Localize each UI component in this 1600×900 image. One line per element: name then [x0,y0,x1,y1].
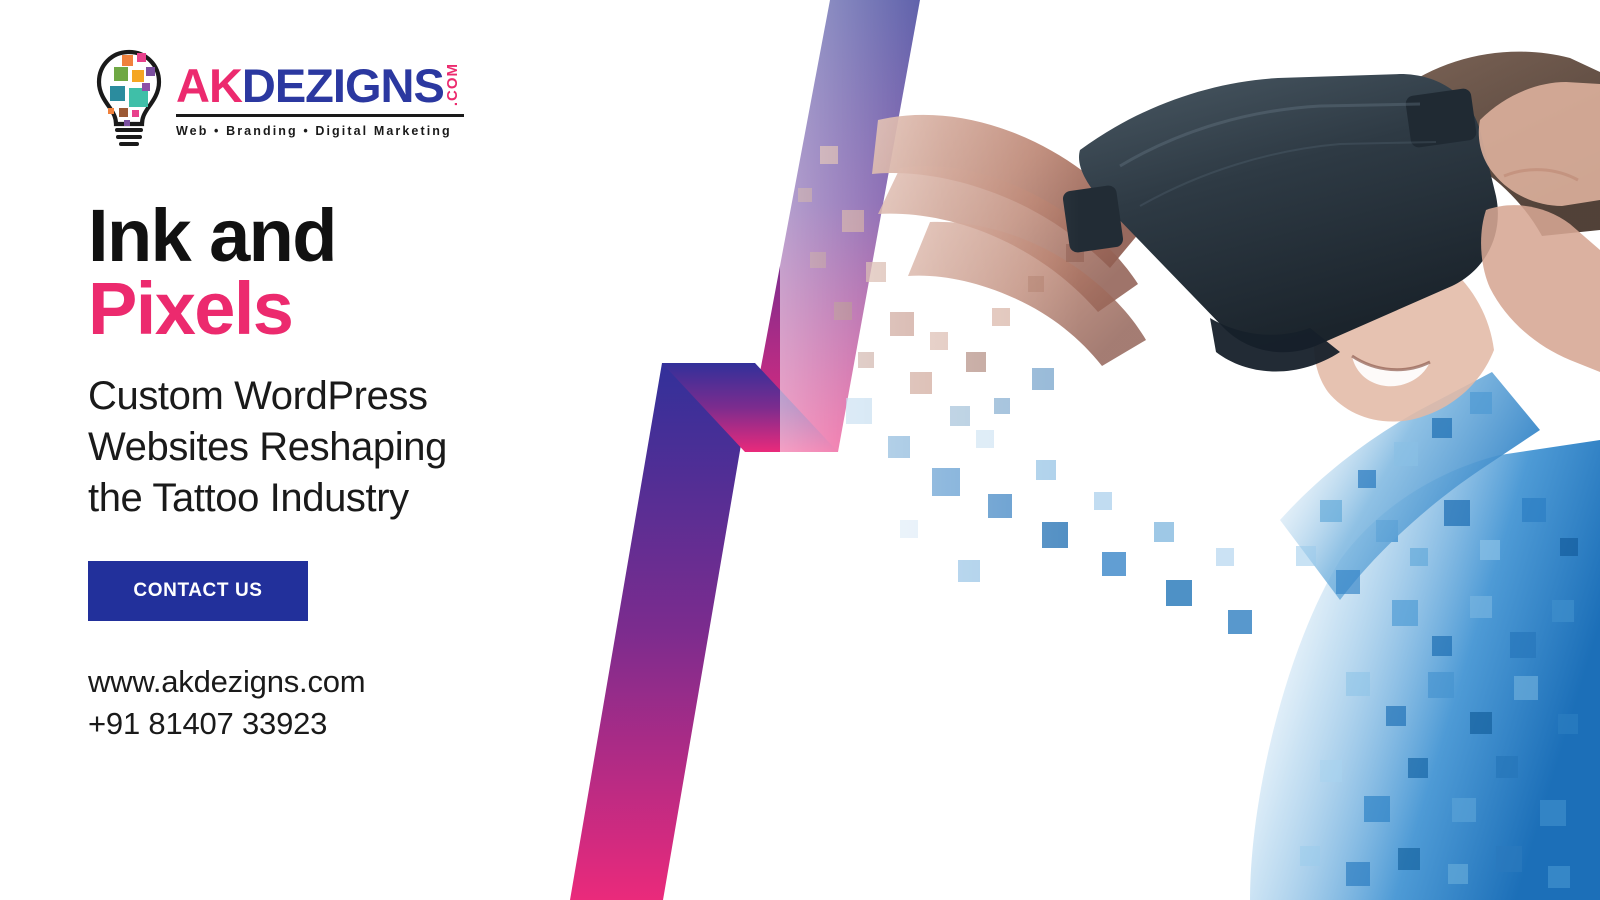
phone-number[interactable]: +91 81407 33923 [88,703,640,746]
logo-tagline: Web • Branding • Digital Marketing [176,124,464,138]
vr-headset-woman-pixel-dispersion [780,0,1600,900]
ribbon-stroke-long [745,0,920,452]
wordmark-ak: AK [176,62,242,109]
figure-hands-on-headset [1479,82,1600,372]
wordmark-dezigns: DEZIGNS [242,62,444,109]
figure-head [1314,52,1600,422]
lightbulb-pixels-icon [88,46,170,154]
contact-info: www.akdezigns.com +91 81407 33923 [88,661,640,747]
subtitle: Custom WordPress Websites Reshaping the … [88,371,640,525]
subtitle-line-1: Custom WordPress [88,371,640,422]
figure-hand [798,115,1252,634]
subtitle-line-2: Websites Reshaping [88,422,640,473]
website-link[interactable]: www.akdezigns.com [88,661,640,704]
subtitle-line-3: the Tattoo Industry [88,473,640,524]
figure-torso [1250,440,1600,900]
ribbon-elbow [662,363,838,452]
headline-line-2: Pixels [88,273,640,346]
page-title: Ink and Pixels [88,200,640,345]
contact-us-button[interactable]: CONTACT US [88,561,308,621]
logo-wordmark-block: AK DEZIGNS .COM Web • Branding • Digital… [176,62,464,138]
wordmark-dotcom: .COM [445,63,460,106]
vr-headset-icon [850,32,1498,371]
logo-divider-rule [176,114,464,117]
brand-logo[interactable]: AK DEZIGNS .COM Web • Branding • Digital… [88,44,640,156]
content-column: AK DEZIGNS .COM Web • Branding • Digital… [0,0,640,900]
marketing-banner: AK DEZIGNS .COM Web • Branding • Digital… [0,0,1600,900]
figure-sleeve [1280,372,1540,600]
headline-line-1: Ink and [88,200,640,273]
